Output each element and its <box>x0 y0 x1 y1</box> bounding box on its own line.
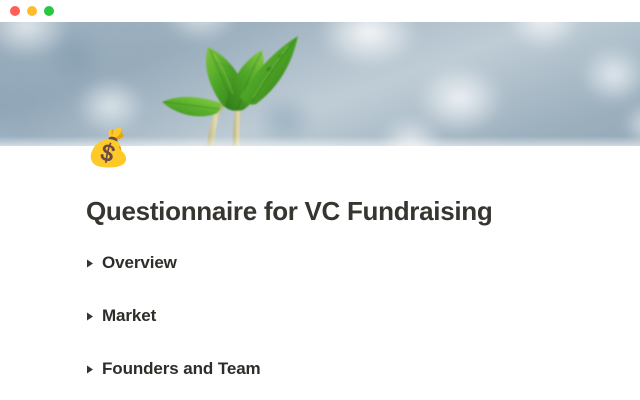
money-bag-emoji-icon[interactable]: 💰 <box>86 128 128 170</box>
close-button[interactable] <box>10 6 20 16</box>
page-content: Questionnaire for VC Fundraising Overvie… <box>0 146 640 400</box>
page-title[interactable]: Questionnaire for VC Fundraising <box>86 195 492 227</box>
toggle-block-founders-and-team[interactable]: Founders and Team <box>86 356 566 382</box>
chevron-right-icon[interactable] <box>86 259 102 268</box>
toggle-block-overview[interactable]: Overview <box>86 250 566 276</box>
window-controls <box>10 6 54 16</box>
toggle-label: Market <box>102 303 156 329</box>
maximize-button[interactable] <box>44 6 54 16</box>
chevron-right-icon[interactable] <box>86 312 102 321</box>
toggle-label: Overview <box>102 250 177 276</box>
minimize-button[interactable] <box>27 6 37 16</box>
window-titlebar <box>0 0 640 22</box>
seedling-illustration <box>128 22 328 146</box>
toggle-block-market[interactable]: Market <box>86 303 566 329</box>
app-window: Questionnaire for VC Fundraising Overvie… <box>0 0 640 400</box>
chevron-right-icon[interactable] <box>86 365 102 374</box>
toggle-label: Founders and Team <box>102 356 261 382</box>
toggle-block-list: Overview Market Founders and Team <box>86 250 566 400</box>
